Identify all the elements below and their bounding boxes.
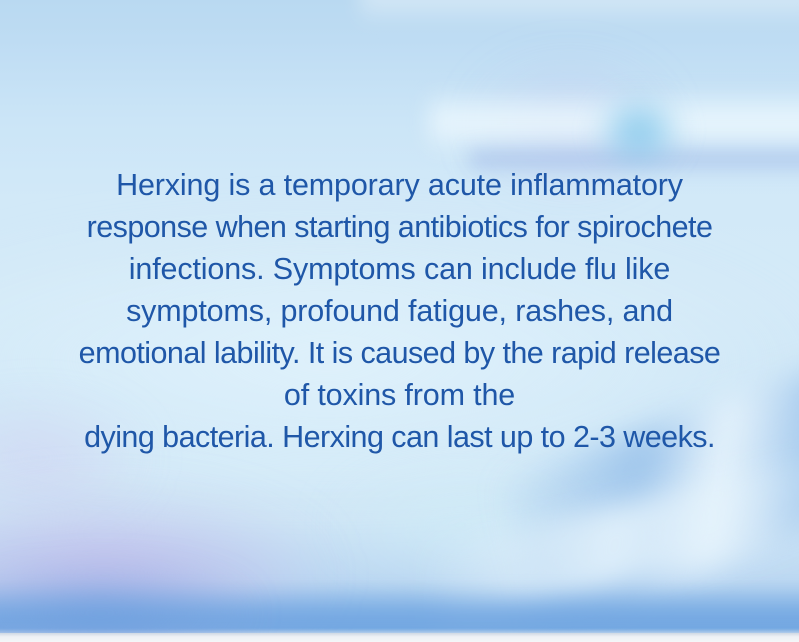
quote-line-3: infections. Symptoms can include flu lik… bbox=[0, 248, 799, 290]
quote-line-7: dying bacteria. Herxing can last up to 2… bbox=[0, 416, 799, 458]
quote-line-2: response when starting antibiotics for s… bbox=[0, 206, 799, 248]
quote-card: Herxing is a temporary acute inflammator… bbox=[0, 0, 799, 642]
quote-line-4: symptoms, profound fatigue, rashes, and bbox=[0, 290, 799, 332]
quote-text-block: Herxing is a temporary acute inflammator… bbox=[0, 164, 799, 458]
background-bottom-left-blob bbox=[0, 568, 250, 642]
quote-line-6: of toxins from the bbox=[0, 374, 799, 416]
background-cyan-blob bbox=[596, 96, 682, 166]
background-bottom-strip bbox=[0, 633, 799, 642]
background-top-highlight bbox=[360, 0, 799, 26]
quote-line-1: Herxing is a temporary acute inflammator… bbox=[0, 164, 799, 206]
quote-line-5: emotional lability. It is caused by the … bbox=[0, 332, 799, 374]
